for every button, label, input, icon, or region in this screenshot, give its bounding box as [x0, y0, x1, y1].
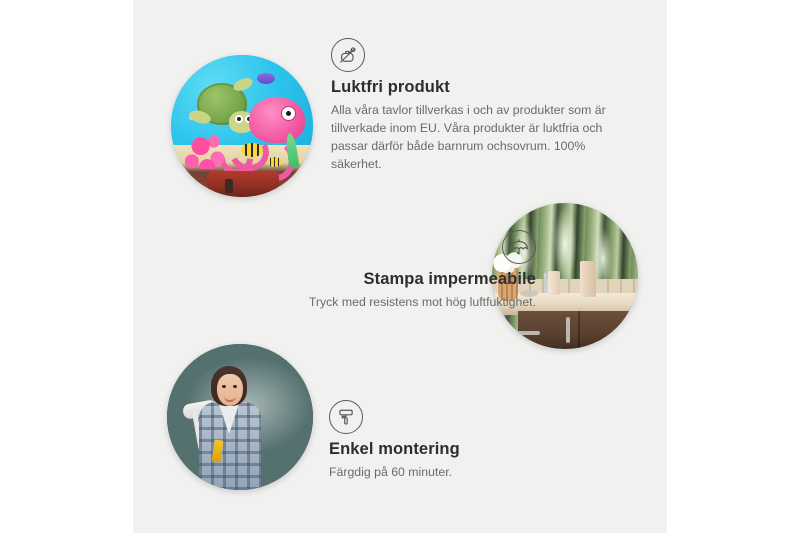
soap-dispenser: [580, 261, 596, 297]
shipwreck-detail: [225, 179, 233, 193]
yellow-fish-icon: [267, 157, 282, 167]
feature-title: Luktfri produkt: [331, 78, 623, 98]
vanity-cabinet: [518, 311, 638, 349]
candle: [548, 271, 560, 295]
faucet: [544, 273, 547, 293]
turtle-eye: [235, 115, 243, 123]
feature-block-easy-assembly: Enkel montering Färgdig på 60 minuter.: [329, 400, 629, 482]
cabinet-handle: [566, 317, 570, 343]
paint-roller-icon: [329, 400, 363, 434]
feature-title: Stampa impermeabile: [193, 270, 536, 290]
underwater-cartoon-wallpaper-thumbnail[interactable]: Cartoon underwater scene with turtle, oc…: [171, 55, 313, 197]
feature-description: Färgdig på 60 minuter.: [329, 464, 629, 482]
purple-fish-icon: [257, 73, 275, 84]
umbrella-icon: [502, 230, 536, 264]
eye: [233, 385, 237, 388]
octopus-eye: [282, 107, 295, 120]
feature-description: Alla våra tavlor tillverkas i och av pro…: [331, 102, 623, 174]
coral-icon: [183, 131, 227, 169]
cabinet-seam: [578, 311, 580, 349]
feature-title: Enkel montering: [329, 440, 629, 460]
eye: [222, 385, 226, 388]
screenshot-root: Cartoon underwater scene with turtle, oc…: [0, 0, 800, 533]
drawer-handle: [506, 331, 540, 335]
feature-block-odorless: Luktfri produkt Alla våra tavlor tillver…: [331, 38, 623, 174]
no-odor-perfume-bottle-icon: [331, 38, 365, 72]
shipwreck: [207, 171, 279, 197]
feature-panel: Cartoon underwater scene with turtle, oc…: [133, 0, 667, 533]
yellow-fish-icon: [241, 143, 263, 157]
feature-block-waterproof: Stampa impermeabile Tryck med resistens …: [193, 230, 536, 312]
woman-paint-roller-forest-thumbnail[interactable]: Smiling woman holding a paint roller in …: [167, 344, 313, 490]
feature-description: Tryck med resistens mot hög luftfuktighe…: [193, 294, 536, 312]
